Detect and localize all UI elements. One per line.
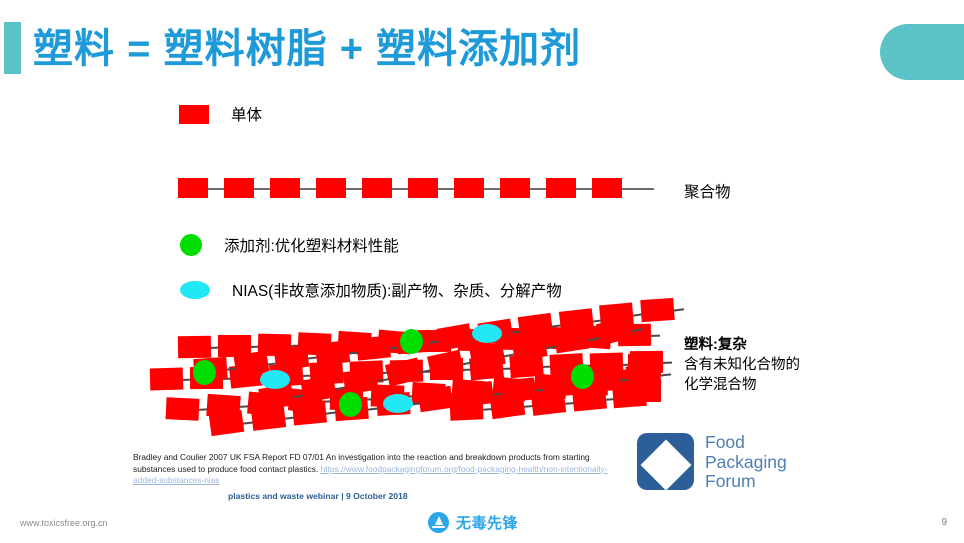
header-accent-bar [4, 22, 21, 74]
monomer-unit [531, 390, 566, 416]
page-title: 塑料 = 塑料树脂 + 塑料添加剂 [33, 23, 581, 75]
monomer-unit [209, 410, 245, 436]
monomer-unit [408, 178, 438, 198]
polymer-bond [208, 188, 224, 190]
monomer-unit [500, 178, 530, 198]
monomer-unit [150, 367, 184, 390]
cyan-ellipse-icon [180, 281, 210, 299]
monomer-unit [454, 178, 484, 198]
green-circle-icon [180, 234, 202, 256]
complex-caption: 塑料:复杂 含有未知化合物的 化学混合物 [684, 335, 864, 395]
monomer-unit [554, 326, 590, 353]
slide: 塑料 = 塑料树脂 + 塑料添加剂 单体 聚合物 添加剂:优化塑料材料性能 NI… [0, 0, 964, 543]
fpf-diamond-icon [640, 439, 691, 490]
fpf-line-1: Food [705, 433, 787, 453]
monomer-unit [315, 340, 350, 366]
nias-marker [472, 324, 502, 343]
page-number: 9 [941, 517, 947, 528]
fpf-line-3: Forum [705, 472, 787, 492]
additive-marker [193, 360, 216, 385]
polymer-bond [638, 188, 654, 190]
citation: Bradley and Coulier 2007 UK FSA Report F… [133, 452, 630, 487]
webinar-line: plastics and waste webinar | 9 October 2… [228, 491, 408, 501]
complex-caption-heading: 塑料:复杂 [684, 337, 747, 353]
monomer-unit [489, 393, 525, 419]
brand-logo: 无毒先锋 [428, 512, 518, 533]
polymer-bond [438, 188, 454, 190]
monomer-unit [270, 178, 300, 198]
monomer-unit [165, 397, 199, 421]
additive-marker [339, 392, 362, 417]
monomer-unit [292, 401, 327, 426]
monomer-unit [592, 178, 622, 198]
monomer-unit [343, 367, 379, 393]
polymer-chain [178, 178, 644, 202]
polymer-bond [300, 188, 316, 190]
nias-marker [260, 370, 290, 389]
monomer-unit [572, 387, 607, 412]
monomer-unit [316, 178, 346, 198]
legend-label-additive: 添加剂:优化塑料材料性能 [224, 234, 399, 256]
polymer-bond [254, 188, 270, 190]
polymer-bond [576, 188, 592, 190]
polymer-bond [530, 188, 546, 190]
monomer-unit [362, 178, 392, 198]
monomer-unit [640, 298, 674, 322]
brand-mark-icon [428, 512, 449, 533]
polymer-bond [346, 188, 362, 190]
header-accent-pill [880, 24, 964, 80]
monomer-unit [417, 386, 453, 413]
polymer-bond [484, 188, 500, 190]
monomer-unit [178, 336, 211, 359]
food-packaging-forum-logo: Food Packaging Forum [637, 430, 837, 496]
complex-plastic-diagram [150, 302, 680, 442]
monomer-unit [274, 345, 310, 371]
polymer-label: 聚合物 [684, 180, 731, 202]
complex-caption-line2: 化学混合物 [684, 377, 757, 393]
fpf-line-2: Packaging [705, 453, 787, 473]
legend-item-nias: NIAS(非故意添加物质):副产物、杂质、分解产物 [180, 279, 562, 301]
additive-marker [571, 364, 594, 389]
legend-label-nias: NIAS(非故意添加物质):副产物、杂质、分解产物 [232, 279, 562, 301]
monomer-unit [224, 178, 254, 198]
polymer-bond [622, 188, 638, 190]
monomer-unit [356, 335, 391, 360]
legend-label-monomer: 单体 [231, 103, 262, 125]
nias-marker [383, 394, 413, 413]
legend-item-additive: 添加剂:优化塑料材料性能 [180, 234, 399, 256]
monomer-unit [251, 405, 286, 431]
complex-caption-line1: 含有未知化合物的 [684, 357, 800, 373]
monomer-unit [628, 354, 661, 376]
fpf-logo-text: Food Packaging Forum [705, 433, 787, 492]
additive-marker [400, 329, 423, 354]
fpf-mark-icon [637, 433, 694, 490]
brand-name: 无毒先锋 [456, 512, 518, 533]
monomer-unit [546, 178, 576, 198]
legend-item-monomer: 单体 [179, 103, 262, 125]
monomer-unit [178, 178, 208, 198]
footer-website-url[interactable]: www.toxicsfree.org.cn [20, 518, 108, 528]
red-square-icon [179, 105, 209, 124]
monomer-unit [628, 380, 661, 402]
polymer-bond [392, 188, 408, 190]
monomer-unit [450, 397, 484, 420]
